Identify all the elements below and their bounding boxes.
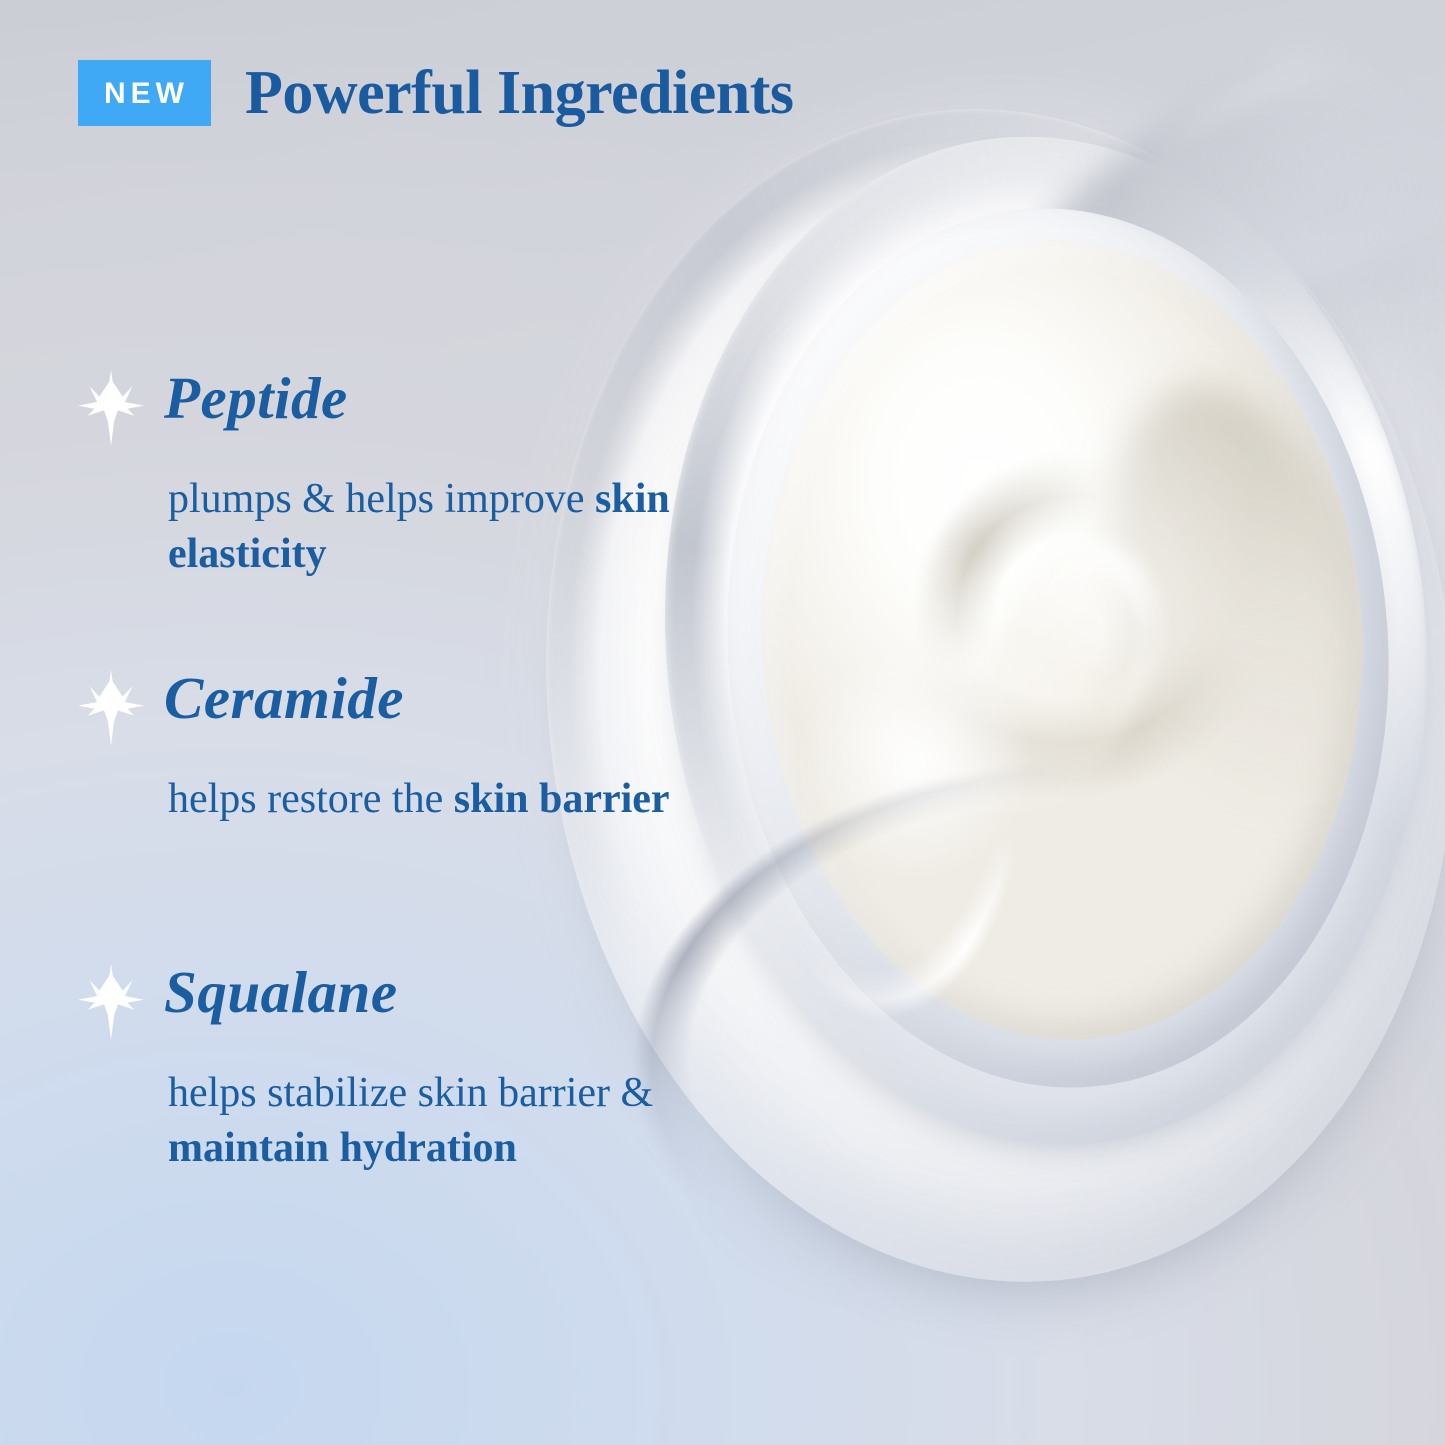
text-column: NEW Powerful Ingredients Peptide plumps … — [0, 0, 720, 1445]
ingredient-desc-plain: helps restore the — [168, 776, 454, 822]
header: NEW Powerful Ingredients — [78, 60, 794, 126]
ingredient-name: Squalane — [164, 962, 398, 1023]
ingredient-desc-plain: plumps & helps improve — [168, 476, 595, 522]
page-title: Powerful Ingredients — [245, 62, 794, 124]
ingredient-heading: Ceramide — [78, 668, 698, 746]
ingredient-desc-bold: skin barrier — [454, 776, 670, 822]
promo-canvas: NEW Powerful Ingredients Peptide plumps … — [0, 0, 1445, 1445]
ingredient-item: Squalane helps stabilize skin barrier & … — [78, 962, 698, 1175]
sparkle-icon — [78, 964, 144, 1040]
ingredient-item: Peptide plumps & helps improve skin elas… — [78, 368, 698, 581]
ingredient-description: helps restore the skin barrier — [168, 772, 698, 827]
ingredient-desc-plain: helps stabilize skin barrier & — [168, 1070, 653, 1116]
sparkle-icon — [78, 670, 144, 746]
ingredient-desc-bold: maintain hydration — [168, 1125, 517, 1171]
ingredient-heading: Squalane — [78, 962, 698, 1040]
new-badge: NEW — [78, 60, 211, 126]
ingredient-description: plumps & helps improve skin elasticity — [168, 472, 698, 581]
ingredient-item: Ceramide helps restore the skin barrier — [78, 668, 698, 827]
ingredient-name: Peptide — [164, 368, 348, 429]
ingredient-name: Ceramide — [164, 668, 404, 729]
ingredient-description: helps stabilize skin barrier & maintain … — [168, 1066, 698, 1175]
ingredient-heading: Peptide — [78, 368, 698, 446]
sparkle-icon — [78, 370, 144, 446]
